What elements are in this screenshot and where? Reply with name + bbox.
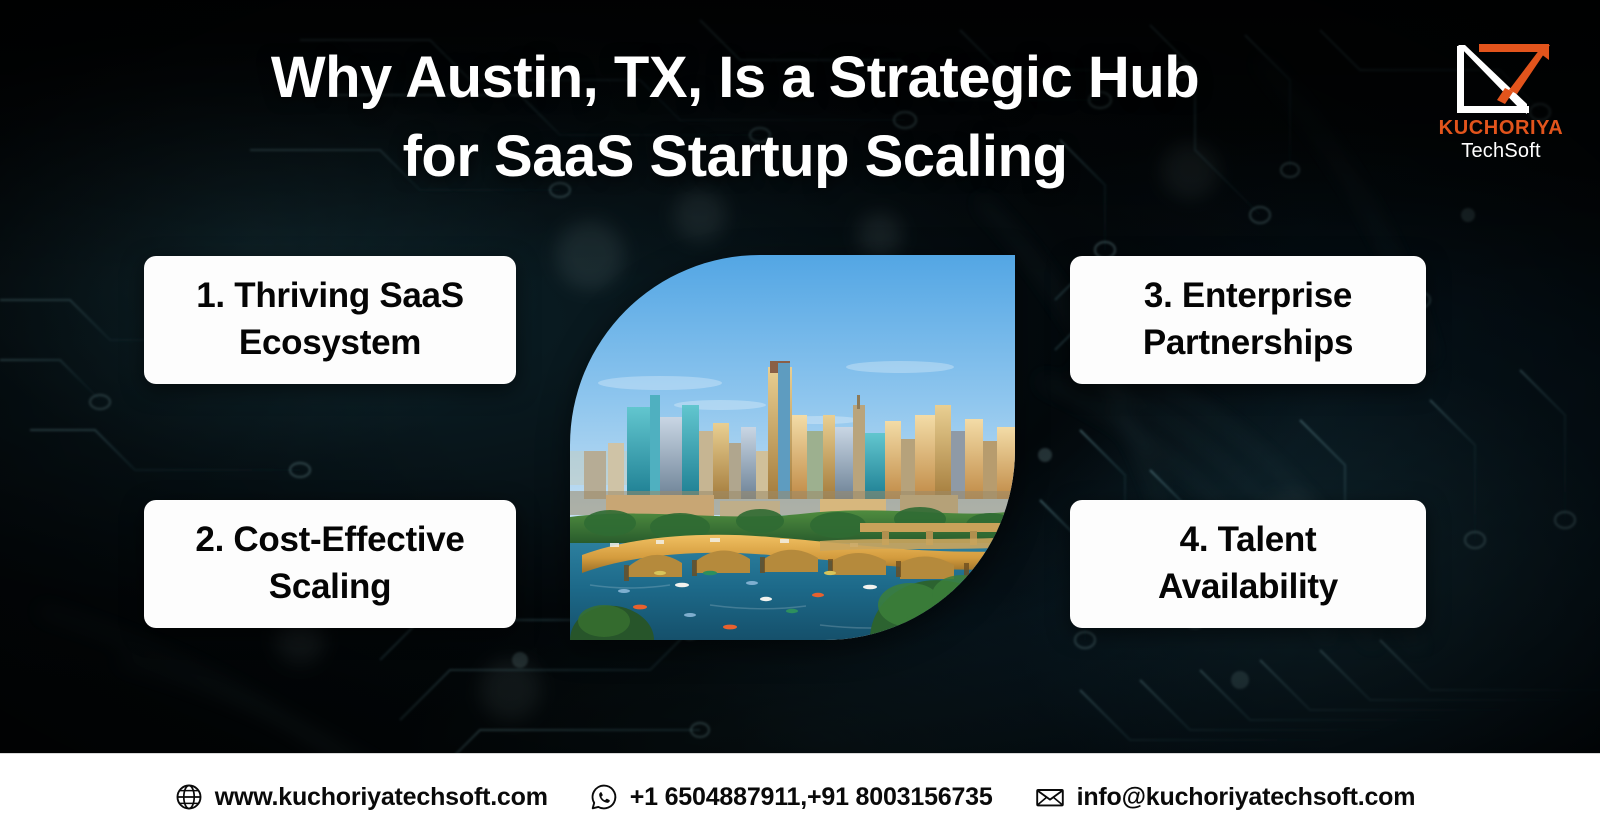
infographic-poster: Why Austin, TX, Is a Strategic Hub for S… [0,0,1600,840]
feature-card-2-label: 2. Cost-Effective Scaling [160,517,500,610]
feature-card-2[interactable]: 2. Cost-Effective Scaling [144,500,516,628]
contact-footer: www.kuchoriyatechsoft.com +1 6504887911,… [0,753,1600,840]
feature-card-3[interactable]: 3. Enterprise Partnerships [1070,256,1426,384]
footer-website[interactable]: www.kuchoriyatechsoft.com [175,783,548,812]
feature-card-4-label: 4. Talent Availability [1086,517,1410,610]
footer-phone[interactable]: +1 6504887911,+91 8003156735 [590,783,993,812]
brand-subtitle: TechSoft [1430,139,1572,164]
kuchoriya-logo-mark [1430,38,1572,114]
feature-card-1[interactable]: 1. Thriving SaaS Ecosystem [144,256,516,384]
feature-card-3-label: 3. Enterprise Partnerships [1086,273,1410,366]
feature-card-1-label: 1. Thriving SaaS Ecosystem [160,273,500,366]
footer-email-text: info@kuchoriyatechsoft.com [1077,783,1416,812]
footer-email[interactable]: info@kuchoriyatechsoft.com [1035,783,1416,812]
feature-card-4[interactable]: 4. Talent Availability [1070,500,1426,628]
austin-skyline-photo [570,255,1015,640]
whatsapp-icon [590,783,618,811]
page-title: Why Austin, TX, Is a Strategic Hub for S… [0,38,1600,197]
footer-website-text: www.kuchoriyatechsoft.com [215,783,548,812]
globe-icon [175,783,203,811]
brand-name: KUCHORIYA [1430,117,1572,139]
brand-logo[interactable]: KUCHORIYA TechSoft [1430,38,1572,164]
footer-phone-text: +1 6504887911,+91 8003156735 [630,783,993,812]
envelope-icon [1035,783,1065,811]
